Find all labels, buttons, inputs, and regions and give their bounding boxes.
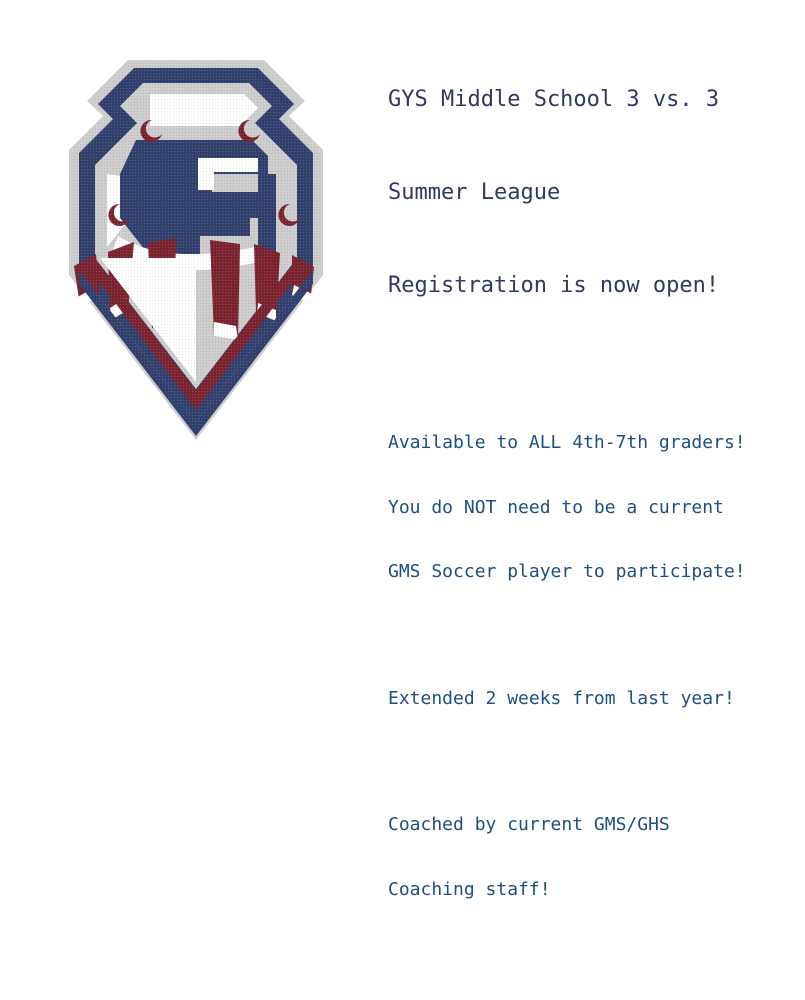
headline-line-3: Registration is now open! (388, 270, 800, 301)
page-title: GYS Middle School 3 vs. 3 Summer League … (388, 22, 800, 363)
gys-shield-crest-logo (0, 22, 390, 462)
flyer-body-copy: Available to ALL 4th-7th graders! You do… (388, 389, 800, 1000)
halftone-texture (0, 22, 390, 462)
coaching-line-1: Coached by current GMS/GHS (388, 814, 800, 836)
flyer-canvas: GYS Middle School 3 vs. 3 Summer League … (0, 0, 805, 500)
duration-line-1: Extended 2 weeks from last year! (388, 688, 800, 710)
paragraph-coaching: Coached by current GMS/GHS Coaching staf… (388, 771, 800, 943)
coaching-line-2: Coaching staff! (388, 879, 800, 901)
eligibility-line-3: GMS Soccer player to participate! (388, 561, 800, 583)
headline-line-1: GYS Middle School 3 vs. 3 (388, 84, 800, 115)
flyer-text-column: GYS Middle School 3 vs. 3 Summer League … (388, 22, 800, 1000)
paragraph-benefits: Come learn the benefits to small sided g… (388, 962, 800, 1000)
headline-line-2: Summer League (388, 177, 800, 208)
paragraph-duration: Extended 2 weeks from last year! (388, 645, 800, 753)
eligibility-line-1: Available to ALL 4th-7th graders! (388, 432, 800, 454)
paragraph-eligibility: Available to ALL 4th-7th graders! You do… (388, 389, 800, 626)
shield-crest-graphic (0, 22, 390, 462)
